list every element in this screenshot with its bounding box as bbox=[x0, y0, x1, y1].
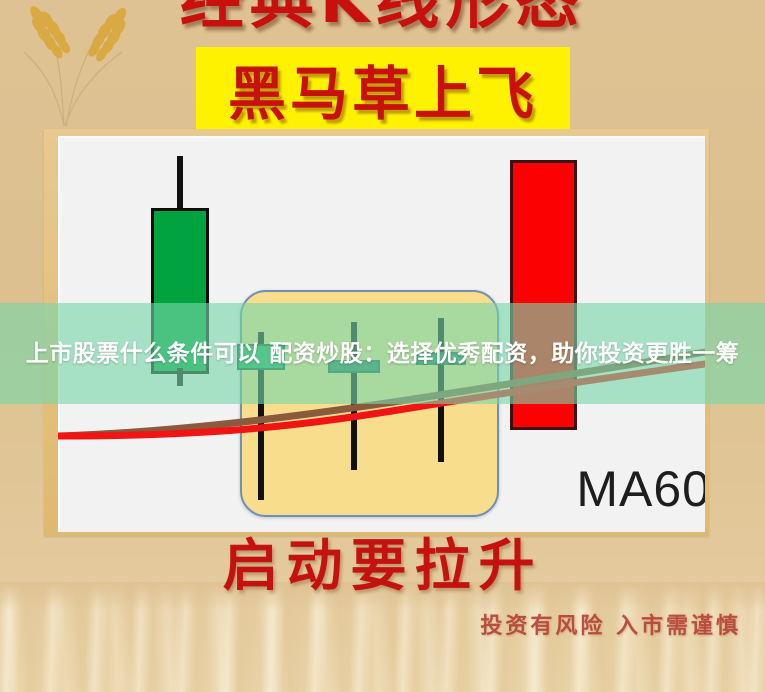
headline-banner-text: 黑马草上飞 bbox=[228, 47, 538, 131]
caption-overlay-band: 上市股票什么条件可以 配资炒股：选择优秀配资，助你投资更胜一筹 bbox=[0, 303, 765, 404]
headline-top: 经典K线形态 bbox=[0, 0, 765, 36]
ma60-label: MA60 bbox=[576, 460, 705, 518]
poster-stage: 经典K线形态 黑马草上飞 bbox=[0, 0, 765, 692]
risk-disclaimer: 投资有风险 入市需谨慎 bbox=[480, 608, 741, 640]
headline-bottom: 启动要拉升 bbox=[0, 530, 765, 602]
headline-banner: 黑马草上飞 bbox=[196, 47, 570, 131]
caption-text: 上市股票什么条件可以 配资炒股：选择优秀配资，助你投资更胜一筹 bbox=[0, 333, 765, 375]
